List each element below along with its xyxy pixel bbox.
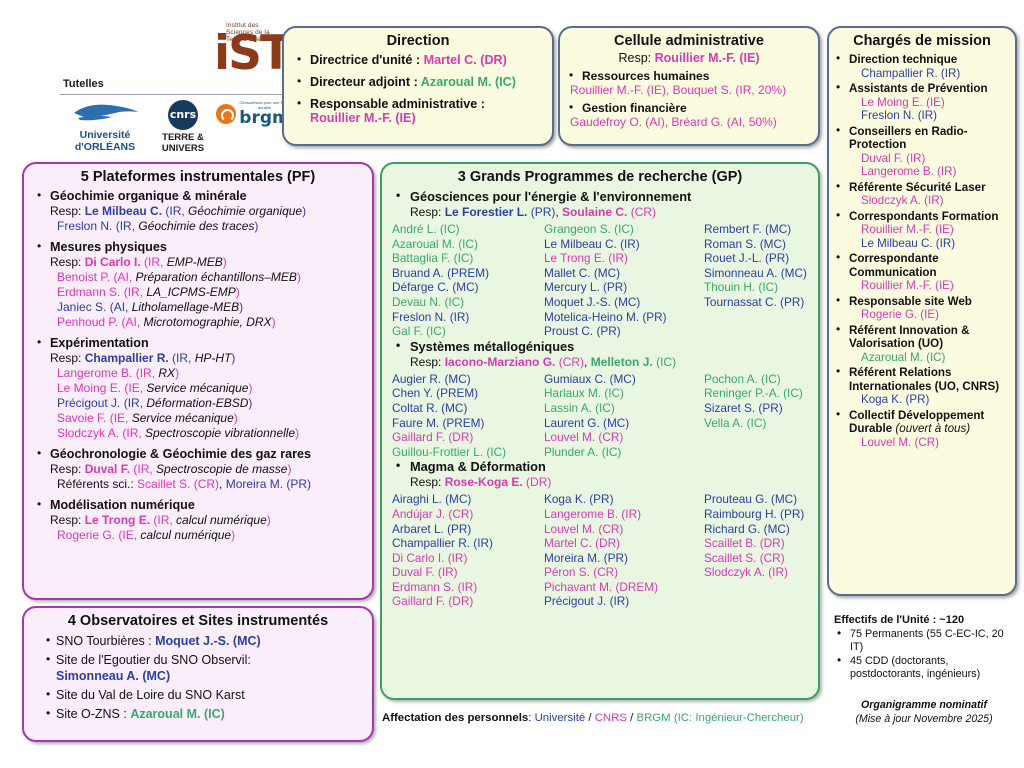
charge-item-head: Référent Relations Internationales (UO, … xyxy=(849,366,999,393)
detail-close: ) xyxy=(248,396,252,410)
gp-member: Louvel M. (CR) xyxy=(544,430,704,445)
gp-resp-label: Resp: xyxy=(410,355,445,369)
plateforme-line-name: Freslon N. xyxy=(57,219,112,233)
gp-member: Pochon A. (IC) xyxy=(704,372,829,387)
plateforme-referent-name: Moreira M. (PR) xyxy=(226,477,311,491)
charge-item-person: Rogerie G. (IE) xyxy=(849,308,1011,322)
plateforme-line-name: Langerome B. xyxy=(57,366,132,380)
cellule-resp-person: Rouillier M.-F. (IE) xyxy=(655,51,760,65)
plateforme-line-detail: (IR, LA_ICPMS-EMP) xyxy=(120,285,239,299)
gp-member: Pichavant M. (DREM) xyxy=(544,580,704,595)
gp-member: Sizaret S. (PR) xyxy=(704,401,829,416)
organigramme-line1: Organigramme nominatif xyxy=(828,698,1020,712)
plateforme-resp-name: Le Trong E. xyxy=(85,513,150,527)
gp-section-columns: Airaghi L. (MC)Andújar J. (CR)Arbaret L.… xyxy=(390,492,812,609)
direction-item-label: Directrice d'unité : xyxy=(310,53,424,67)
gp-member: Rouet J.-L. (PR) xyxy=(704,251,829,266)
detail-close: ) xyxy=(287,462,291,476)
gp-member: Duval F. (IR) xyxy=(392,565,544,580)
gp-member: Bruand A. (PREM) xyxy=(392,266,544,281)
plateforme-resp-label: Resp: xyxy=(50,204,85,218)
detail-close: ) xyxy=(254,219,258,233)
detail-open: (AI, xyxy=(110,270,135,284)
gp-column: Pochon A. (IC)Reninger P.-A. (IC)Sizaret… xyxy=(704,372,829,460)
plateforme-line-name: Savoie F. xyxy=(57,411,106,425)
plateforme-resp-label: Resp: xyxy=(50,255,85,269)
detail-close: ) xyxy=(297,270,301,284)
observatoire-item: Site O-ZNS : Azaroual M. (IC) xyxy=(42,706,366,722)
cellule-item-people: Gaudefroy O. (AI), Bréard G. (AI, 50%) xyxy=(570,115,777,129)
gp-member: Vella A. (IC) xyxy=(704,416,829,431)
detail-open: (IR, xyxy=(169,351,195,365)
gp-column: Airaghi L. (MC)Andújar J. (CR)Arbaret L.… xyxy=(392,492,544,609)
logo-universite-orleans: Université d'ORLÉANS xyxy=(63,100,147,153)
observatoire-person: Moquet J.-S. (MC) xyxy=(155,634,261,648)
plateforme-line: Penhoud P. (AI, Microtomographie, DRX) xyxy=(50,315,366,330)
gp-member: Tournassat C. (PR) xyxy=(704,295,829,310)
plateforme-resp-label: Resp: xyxy=(50,513,85,527)
effectifs-list: 75 Permanents (55 C-EC-IC, 20 IT)45 CDD … xyxy=(828,628,1020,681)
detail-open: (IR, xyxy=(141,255,167,269)
observatoire-label: Site de l'Egoutier du SNO Observil: xyxy=(56,653,251,667)
plateforme-line-detail: (IR, Géochimie des traces) xyxy=(112,219,258,233)
gp-member: André L. (IC) xyxy=(392,222,544,237)
plateforme-resp-detail: (IR, calcul numérique) xyxy=(150,513,271,527)
gp-member: Devau N. (IC) xyxy=(392,295,544,310)
charge-item-person: Langerome B. (IR) xyxy=(849,165,1011,179)
brgm-dot-icon xyxy=(216,104,236,124)
gp-member: Augier R. (MC) xyxy=(392,372,544,387)
plateforme-resp: Resp: Di Carlo I. (IR, EMP-MEB) xyxy=(50,255,366,270)
legend-universite: Université xyxy=(535,712,586,724)
gp-section: Géosciences pour l'énergie & l'environne… xyxy=(382,189,818,339)
gp-column: Gumiaux C. (MC)Harlaux M. (IC)Lassin A. … xyxy=(544,372,704,460)
plateforme-resp-detail: (IR, Géochimie organique) xyxy=(162,204,306,218)
detail-close: ) xyxy=(231,528,235,542)
plateforme-head: Mesures physiques xyxy=(50,240,167,254)
gp-member: Mallet C. (MC) xyxy=(544,266,704,281)
plateforme-resp-label: Resp: xyxy=(50,462,85,476)
detail-italic: LA_ICPMS-EMP xyxy=(146,285,235,299)
plateforme-item: Mesures physiquesResp: Di Carlo I. (IR, … xyxy=(36,240,366,330)
gp-member: Guillou-Frottier L. (IC) xyxy=(392,445,544,460)
gp-member: Raimbourg H. (PR) xyxy=(704,507,829,522)
charge-item-head: Assistants de Prévention xyxy=(849,82,988,95)
organigramme-footer: Organigramme nominatif (Mise à jour Nove… xyxy=(828,698,1020,726)
observatoires-list: SNO Tourbières : Moquet J.-S. (MC)Site d… xyxy=(24,633,372,722)
effectifs-title: Effectifs de l'Unité : ~120 xyxy=(834,614,1020,627)
charge-item-head: Direction technique xyxy=(849,53,957,66)
plateforme-line-detail: (IR, Spectroscopie vibrationnelle) xyxy=(119,426,299,440)
plateforme-resp: Resp: Le Milbeau C. (IR, Géochimie organ… xyxy=(50,204,366,219)
gp-section-resp: Resp: Rose-Koga E. (DR) xyxy=(390,475,812,489)
gp-member: Gaillard F. (DR) xyxy=(392,594,544,609)
cellule-title: Cellule administrative xyxy=(560,33,818,49)
observatoire-person: Simonneau A. (MC) xyxy=(56,669,170,683)
detail-open: (IR, xyxy=(120,396,146,410)
gp-member: Simonneau A. (MC) xyxy=(704,266,829,281)
gp-column: Rembert F. (MC)Roman S. (MC)Rouet J.-L. … xyxy=(704,222,829,339)
direction-item: Directrice d'unité : Martel C. (DR) xyxy=(296,53,546,67)
plateforme-head: Géochronologie & Géochimie des gaz rares xyxy=(50,447,311,461)
plateforme-resp: Resp: Le Trong E. (IR, calcul numérique) xyxy=(50,513,366,528)
gp-resp-grade: (IC) xyxy=(653,355,676,369)
plateforme-resp: Resp: Duval F. (IR, Spectroscopie de mas… xyxy=(50,462,366,477)
cellule-resp: Resp: Rouillier M.-F. (IE) xyxy=(560,51,818,65)
plateforme-line-name: Précigout J. xyxy=(57,396,120,410)
charge-item-head: Correspondants Formation xyxy=(849,210,998,223)
detail-italic: HP-HT xyxy=(195,351,232,365)
universite-bird-icon xyxy=(70,100,140,124)
direction-item-person: Martel C. (DR) xyxy=(424,53,507,67)
plateforme-resp-name: Duval F. xyxy=(85,462,130,476)
charges-title: Chargés de mission xyxy=(829,33,1015,49)
direction-item-person: Rouillier M.-F. (IE) xyxy=(310,111,416,125)
plateforme-referents: Référents sci.: Scaillet S. (CR), Moreir… xyxy=(50,477,366,492)
cnrs-label-line2: UNIVERS xyxy=(150,143,216,154)
observatoires-title: 4 Observatoires et Sites instrumentés xyxy=(24,613,372,629)
gp-member: Martel C. (DR) xyxy=(544,536,704,551)
plateforme-line-name: Slodczyk A. xyxy=(57,426,119,440)
charge-item: Référent Relations Internationales (UO, … xyxy=(835,366,1011,407)
observatoire-label: Site O-ZNS : xyxy=(56,707,130,721)
detail-open: (IR, xyxy=(112,219,138,233)
gp-member: Proust C. (PR) xyxy=(544,324,704,339)
detail-close: ) xyxy=(234,411,238,425)
gp-member: Arbaret L. (PR) xyxy=(392,522,544,537)
plateforme-line: Rogerie G. (IE, calcul numérique) xyxy=(50,528,366,543)
detail-italic: RX xyxy=(158,366,175,380)
detail-close: ) xyxy=(236,285,240,299)
gp-column: Augier R. (MC)Chen Y. (PREM)Coltat R. (M… xyxy=(392,372,544,460)
charge-item-head: Conseillers en Radio-Protection xyxy=(849,125,968,152)
gp-member: Roman S. (MC) xyxy=(704,237,829,252)
plateforme-head: Expérimentation xyxy=(50,336,149,350)
gp-member: Prouteau G. (MC) xyxy=(704,492,829,507)
gp-member: Thouin H. (IC) xyxy=(704,280,829,295)
gp-section-columns: André L. (IC)Azaroual M. (IC)Battaglia F… xyxy=(390,222,812,339)
gp-member: Laurent G. (MC) xyxy=(544,416,704,431)
gp-member: Rembert F. (MC) xyxy=(704,222,829,237)
gp-resp-grade: (PR) xyxy=(527,205,555,219)
gp-member: Grangeon S. (IC) xyxy=(544,222,704,237)
gp-member: Le Trong E. (IR) xyxy=(544,251,704,266)
charge-item-person: Duval F. (IR) xyxy=(849,152,1011,166)
gp-resp-name: Soulaine C. xyxy=(562,205,627,219)
plateforme-line-detail: (AI, Microtomographie, DRX) xyxy=(118,315,275,329)
charge-item-person: Freslon N. (IR) xyxy=(849,109,1011,123)
gp-section: Magma & DéformationResp: Rose-Koga E. (D… xyxy=(382,459,818,609)
effectifs-block: Effectifs de l'Unité : ~120 75 Permanent… xyxy=(828,614,1020,682)
detail-italic: Géochimie des traces xyxy=(138,219,254,233)
grands-programmes-sections: Géosciences pour l'énergie & l'environne… xyxy=(382,189,818,609)
gp-member: Chen Y. (PREM) xyxy=(392,386,544,401)
charge-item-person: Le Moing E. (IE) xyxy=(849,96,1011,110)
detail-open: (IR, xyxy=(120,285,146,299)
plateformes-title: 5 Plateformes instrumentales (PF) xyxy=(24,169,372,185)
gp-resp-grade: (DR) xyxy=(523,475,552,489)
universite-label-line2: d'ORLÉANS xyxy=(63,142,147,154)
gp-resp-grade: (CR) xyxy=(555,355,584,369)
detail-open: (IE, xyxy=(115,528,140,542)
detail-close: ) xyxy=(302,204,306,218)
gp-member: Gumiaux C. (MC) xyxy=(544,372,704,387)
gp-section-resp: Resp: Le Forestier L. (PR), Soulaine C. … xyxy=(390,205,812,219)
gp-member: Langerome B. (IR) xyxy=(544,507,704,522)
detail-close: ) xyxy=(239,300,243,314)
plateforme-line-name: Erdmann S. xyxy=(57,285,120,299)
gp-member: Battaglia F. (IC) xyxy=(392,251,544,266)
plateforme-resp-detail: (IR, HP-HT) xyxy=(169,351,236,365)
detail-italic: Service mécanique xyxy=(146,381,248,395)
detail-close: ) xyxy=(267,513,271,527)
plateforme-item: Géochimie organique & minéraleResp: Le M… xyxy=(36,189,366,234)
plateforme-line-detail: (AI, Litholamellage-MEB) xyxy=(106,300,243,314)
plateforme-resp-name: Di Carlo I. xyxy=(85,255,141,269)
plateforme-line: Slodczyk A. (IR, Spectroscopie vibration… xyxy=(50,426,366,441)
legend-cnrs: CNRS xyxy=(595,712,627,724)
gp-resp-name: Melleton J. xyxy=(591,355,653,369)
charge-item: Assistants de PréventionLe Moing E. (IE)… xyxy=(835,82,1011,123)
gp-member: Le Milbeau C. (IR) xyxy=(544,237,704,252)
plateforme-line: Benoist P. (AI, Préparation échantillons… xyxy=(50,270,366,285)
plateforme-referent-name: Scaillet S. (CR) xyxy=(137,477,219,491)
detail-close: ) xyxy=(272,315,276,329)
gp-section-title: Systèmes métallogéniques xyxy=(390,339,812,354)
plateforme-line-name: Janiec S. xyxy=(57,300,106,314)
gp-member: Mercury L. (PR) xyxy=(544,280,704,295)
detail-open: (IR, xyxy=(150,513,176,527)
plateforme-resp-label: Resp: xyxy=(50,351,85,365)
detail-open: (IE, xyxy=(121,381,146,395)
charge-item-head: Correspondante Communication xyxy=(849,252,939,279)
detail-open: (IR, xyxy=(119,426,145,440)
plateforme-line-name: Rogerie G. xyxy=(57,528,115,542)
detail-open: (IR, xyxy=(130,462,156,476)
gp-resp-sep: , xyxy=(584,355,591,369)
legend-label: Affectation des personnels xyxy=(382,712,528,724)
gp-member: Harlaux M. (IC) xyxy=(544,386,704,401)
cellule-item-label: Ressources humaines xyxy=(582,69,709,83)
plateforme-line-detail: (IE, Service mécanique) xyxy=(106,411,237,425)
plateforme-line: Savoie F. (IE, Service mécanique) xyxy=(50,411,366,426)
logo-cnrs: cnrs TERRE & UNIVERS xyxy=(150,100,216,154)
detail-open: (IR, xyxy=(162,204,188,218)
gp-section-title: Géosciences pour l'énergie & l'environne… xyxy=(390,189,812,204)
plateforme-line-detail: (AI, Préparation échantillons–MEB) xyxy=(110,270,301,284)
legend-brgm: BRGM xyxy=(636,712,670,724)
charge-item-person: Rouillier M.-F. (IE) xyxy=(849,223,1011,237)
detail-italic: Géochimie organique xyxy=(188,204,302,218)
charge-item-head: Responsable site Web xyxy=(849,295,972,308)
logo-brgm: Géosciences pour une Terre durable brgm xyxy=(216,100,290,128)
effectifs-item: 75 Permanents (55 C-EC-IC, 20 IT) xyxy=(834,628,1014,654)
gp-resp-grade: (CR) xyxy=(627,205,656,219)
direction-item: Responsable administrative :Rouillier M.… xyxy=(296,97,546,125)
charge-item-person: Louvel M. (CR) xyxy=(849,436,1011,450)
universite-label-line1: Université xyxy=(63,130,147,142)
direction-list: Directrice d'unité : Martel C. (DR)Direc… xyxy=(284,53,552,125)
gp-section: Systèmes métallogéniquesResp: Iacono-Mar… xyxy=(382,339,818,460)
legend-note: (IC: Ingénieur-Chercheur) xyxy=(671,712,804,724)
observatoire-label: Site du Val de Loire du SNO Karst xyxy=(56,688,245,702)
detail-close: ) xyxy=(223,255,227,269)
charge-item: Référente Sécurité LaserSlodczyk A. (IR) xyxy=(835,181,1011,208)
charge-item: Correspondants FormationRouillier M.-F. … xyxy=(835,210,1011,251)
observatoire-item: Site de l'Egoutier du SNO Observil:Simon… xyxy=(42,652,366,684)
plateforme-resp: Resp: Champallier R. (IR, HP-HT) xyxy=(50,351,366,366)
plateforme-line-name: Benoist P. xyxy=(57,270,110,284)
tutelles-divider xyxy=(60,94,282,95)
detail-open: (IE, xyxy=(106,411,131,425)
direction-item: Directeur adjoint : Azaroual M. (IC) xyxy=(296,75,546,89)
charge-item-head: Référent Innovation & Valorisation (UO) xyxy=(849,324,969,351)
cellule-item: Gestion financièreGaudefroy O. (AI), Bré… xyxy=(568,101,812,129)
detail-italic: Spectroscopie de masse xyxy=(156,462,287,476)
charge-item-person: Champallier R. (IR) xyxy=(849,67,1011,81)
charge-item-head-note: (ouvert à tous) xyxy=(892,422,970,435)
gp-column: Grangeon S. (IC)Le Milbeau C. (IR)Le Tro… xyxy=(544,222,704,339)
tutelles-label: Tutelles xyxy=(63,78,104,90)
plateforme-item: Modélisation numériqueResp: Le Trong E. … xyxy=(36,498,366,543)
plateforme-line: Janiec S. (AI, Litholamellage-MEB) xyxy=(50,300,366,315)
observatoires-panel: 4 Observatoires et Sites instrumentés SN… xyxy=(22,606,374,742)
cellule-item-label: Gestion financière xyxy=(582,101,687,115)
gp-member: Champallier R. (IR) xyxy=(392,536,544,551)
plateforme-item: Géochronologie & Géochimie des gaz rares… xyxy=(36,447,366,492)
gp-section-title: Magma & Déformation xyxy=(390,459,812,474)
charges-list: Direction techniqueChampallier R. (IR)As… xyxy=(829,53,1015,449)
charge-item: Responsable site WebRogerie G. (IE) xyxy=(835,295,1011,322)
plateformes-list: Géochimie organique & minéraleResp: Le M… xyxy=(24,189,372,543)
observatoire-item: Site du Val de Loire du SNO Karst xyxy=(42,687,366,703)
gp-member: Richard G. (MC) xyxy=(704,522,829,537)
detail-italic: EMP-MEB xyxy=(167,255,223,269)
gp-member: Défarge C. (MC) xyxy=(392,280,544,295)
gp-resp-label: Resp: xyxy=(410,475,445,489)
gp-member: Erdmann S. (IR) xyxy=(392,580,544,595)
grands-programmes-panel: 3 Grands Programmes de recherche (GP) Gé… xyxy=(380,162,820,700)
direction-item-label: Directeur adjoint : xyxy=(310,75,421,89)
charge-item-person: Rouillier M.-F. (IE) xyxy=(849,279,1011,293)
gp-member: Louvel M. (CR) xyxy=(544,522,704,537)
gp-member: Coltat R. (MC) xyxy=(392,401,544,416)
observatoire-item: SNO Tourbières : Moquet J.-S. (MC) xyxy=(42,633,366,649)
charge-item: Conseillers en Radio-ProtectionDuval F. … xyxy=(835,125,1011,179)
gp-column: Koga K. (PR)Langerome B. (IR)Louvel M. (… xyxy=(544,492,704,609)
gp-member: Moquet J.-S. (MC) xyxy=(544,295,704,310)
affectation-legend: Affectation des personnels: Université /… xyxy=(382,712,804,724)
gp-member: Azaroual M. (IC) xyxy=(392,237,544,252)
plateforme-line-name: Le Moing E. xyxy=(57,381,121,395)
gp-member: Gaillard F. (DR) xyxy=(392,430,544,445)
charge-item-person: Le Milbeau C. (IR) xyxy=(849,237,1011,251)
plateforme-line-detail: (IE, calcul numérique) xyxy=(115,528,235,542)
gp-member: Scaillet S. (CR) xyxy=(704,551,829,566)
gp-member: Slodczyk A. (IR) xyxy=(704,565,829,580)
cnrs-circle-icon: cnrs xyxy=(168,100,198,130)
grands-programmes-title: 3 Grands Programmes de recherche (GP) xyxy=(382,169,818,185)
detail-open: (IR, xyxy=(132,366,158,380)
gp-column: André L. (IC)Azaroual M. (IC)Battaglia F… xyxy=(392,222,544,339)
charge-item-person: Koga K. (PR) xyxy=(849,393,1011,407)
charge-item-person: Azaroual M. (IC) xyxy=(849,351,1011,365)
gp-member: Faure M. (PREM) xyxy=(392,416,544,431)
plateforme-referents-label: Référents sci.: xyxy=(57,477,137,491)
gp-member: Précigout J. (IR) xyxy=(544,594,704,609)
gp-resp-label: Resp: xyxy=(410,205,445,219)
direction-item-person: Azaroual M. (IC) xyxy=(421,75,516,89)
plateforme-line: Précigout J. (IR, Déformation-EBSD) xyxy=(50,396,366,411)
gp-member: Reninger P.-A. (IC) xyxy=(704,386,829,401)
gp-section-resp: Resp: Iacono-Marziano G. (CR), Melleton … xyxy=(390,355,812,369)
plateforme-head: Modélisation numérique xyxy=(50,498,195,512)
detail-close: ) xyxy=(295,426,299,440)
cellule-administrative-panel: Cellule administrative Resp: Rouillier M… xyxy=(558,26,820,146)
cellule-item: Ressources humainesRouillier M.-F. (IE),… xyxy=(568,69,812,97)
gp-resp-name: Le Forestier L. xyxy=(445,205,528,219)
isto-logo: Institut des Sciences de la Terre d'Orlé… xyxy=(108,14,276,76)
charges-de-mission-panel: Chargés de mission Direction techniqueCh… xyxy=(827,26,1017,596)
gp-column: Prouteau G. (MC)Raimbourg H. (PR)Richard… xyxy=(704,492,829,609)
gp-member: Koga K. (PR) xyxy=(544,492,704,507)
detail-close: ) xyxy=(248,381,252,395)
gp-member: Péron S. (CR) xyxy=(544,565,704,580)
cnrs-label-line1: TERRE & xyxy=(150,132,216,143)
observatoire-person: Azaroual M. (IC) xyxy=(130,707,224,721)
gp-member: Andújar J. (CR) xyxy=(392,507,544,522)
gp-resp-name: Iacono-Marziano G. xyxy=(445,355,556,369)
detail-italic: Litholamellage-MEB xyxy=(132,300,239,314)
detail-close: ) xyxy=(231,351,235,365)
gp-member: Scaillet B. (DR) xyxy=(704,536,829,551)
plateforme-line: Langerome B. (IR, RX) xyxy=(50,366,366,381)
plateforme-item: ExpérimentationResp: Champallier R. (IR,… xyxy=(36,336,366,441)
gp-member: Freslon N. (IR) xyxy=(392,310,544,325)
cellule-item-people: Rouillier M.-F. (IE), Bouquet S. (IR, 20… xyxy=(570,83,786,97)
charge-item: Collectif Développement Durable (ouvert … xyxy=(835,409,1011,450)
detail-italic: Déformation-EBSD xyxy=(146,396,248,410)
legend-slash1: / xyxy=(585,712,595,724)
charge-item-person: Slodczyk A. (IR) xyxy=(849,194,1011,208)
plateformes-panel: 5 Plateformes instrumentales (PF) Géochi… xyxy=(22,162,374,600)
plateforme-line: Erdmann S. (IR, LA_ICPMS-EMP) xyxy=(50,285,366,300)
gp-member: Lassin A. (IC) xyxy=(544,401,704,416)
plateforme-line: Le Moing E. (IE, Service mécanique) xyxy=(50,381,366,396)
organigramme-line2: (Mise à jour Novembre 2025) xyxy=(828,712,1020,726)
plateforme-line-detail: (IR, Déformation-EBSD) xyxy=(120,396,252,410)
charge-item: Référent Innovation & Valorisation (UO)A… xyxy=(835,324,1011,365)
plateforme-line-detail: (IE, Service mécanique) xyxy=(121,381,252,395)
direction-title: Direction xyxy=(284,33,552,49)
detail-italic: calcul numérique xyxy=(176,513,267,527)
gp-member: Moreira M. (PR) xyxy=(544,551,704,566)
gp-section-columns: Augier R. (MC)Chen Y. (PREM)Coltat R. (M… xyxy=(390,372,812,460)
gp-member: Motelica-Heino M. (PR) xyxy=(544,310,704,325)
plateforme-resp-name: Champallier R. xyxy=(85,351,169,365)
detail-italic: Microtomographie, DRX xyxy=(144,315,272,329)
detail-open: (AI, xyxy=(118,315,143,329)
isto-wordmark: iST xyxy=(214,30,290,77)
gp-member: Gal F. (IC) xyxy=(392,324,544,339)
gp-member: Di Carlo I. (IR) xyxy=(392,551,544,566)
plateforme-referent-sep: , xyxy=(219,477,226,491)
plateforme-line: Freslon N. (IR, Géochimie des traces) xyxy=(50,219,366,234)
cellule-list: Ressources humainesRouillier M.-F. (IE),… xyxy=(560,69,818,129)
plateforme-resp-detail: (IR, Spectroscopie de masse) xyxy=(130,462,291,476)
detail-close: ) xyxy=(175,366,179,380)
detail-italic: Préparation échantillons–MEB xyxy=(136,270,297,284)
